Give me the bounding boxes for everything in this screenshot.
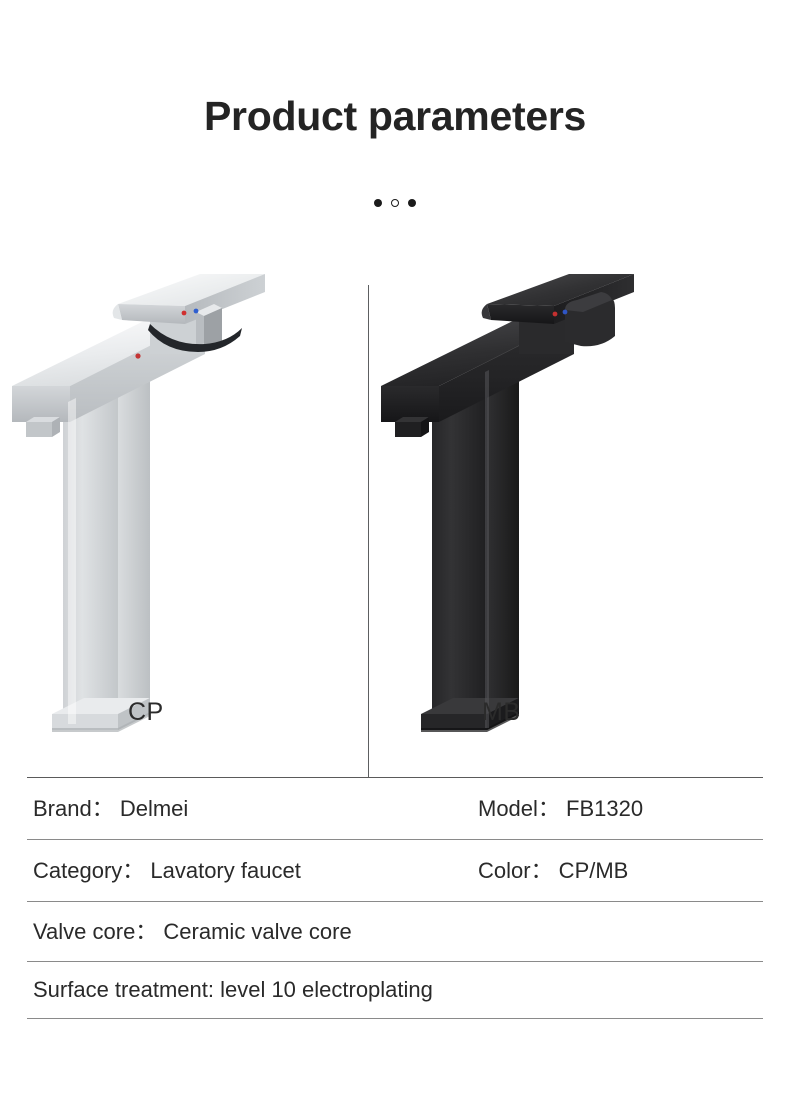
chrome-handle-front bbox=[118, 304, 185, 324]
black-handle-front bbox=[487, 304, 554, 324]
chrome-column-side bbox=[118, 354, 150, 730]
specification-table: Brand： Delmei Model： FB1320 Category： La… bbox=[27, 777, 763, 1019]
spec-valve-core: Valve core： Ceramic valve core bbox=[33, 921, 352, 943]
product-cp[interactable]: CP bbox=[0, 262, 368, 778]
chrome-aerator bbox=[26, 422, 52, 437]
spec-surface-treatment: Surface treatment: level 10 electroplati… bbox=[33, 979, 433, 1001]
spec-color: Color： CP/MB bbox=[478, 860, 628, 882]
spec-row-category-color: Category： Lavatory faucet Color： CP/MB bbox=[27, 840, 763, 902]
spec-category: Category： Lavatory faucet bbox=[33, 860, 301, 882]
spec-row-surface-treatment: Surface treatment: level 10 electroplati… bbox=[27, 962, 763, 1019]
page-title: Product parameters bbox=[0, 96, 790, 137]
spec-model: Model： FB1320 bbox=[478, 798, 643, 820]
spec-row-valve-core: Valve core： Ceramic valve core bbox=[27, 902, 763, 962]
spec-row-brand-model: Brand： Delmei Model： FB1320 bbox=[27, 778, 763, 840]
black-aerator bbox=[395, 422, 421, 437]
black-spout-face bbox=[381, 386, 439, 422]
hot-indicator-secondary-icon bbox=[135, 353, 140, 358]
cold-indicator-icon bbox=[563, 310, 568, 315]
black-column-front bbox=[432, 370, 487, 730]
matte-black-faucet-image bbox=[369, 262, 737, 778]
spec-brand: Brand： Delmei bbox=[33, 798, 188, 820]
product-label-cp: CP bbox=[128, 700, 164, 725]
carousel-dot-2[interactable] bbox=[391, 199, 399, 207]
black-column-side bbox=[487, 354, 519, 730]
black-base-front bbox=[421, 714, 487, 730]
hot-indicator-icon bbox=[553, 312, 558, 317]
chrome-spout-face bbox=[12, 386, 70, 422]
product-showcase: CP bbox=[0, 262, 790, 778]
cold-indicator-icon bbox=[194, 309, 199, 314]
hot-indicator-icon bbox=[182, 311, 187, 316]
carousel-dots bbox=[0, 199, 790, 207]
product-mb[interactable]: MB bbox=[369, 262, 737, 778]
chrome-faucet-image bbox=[0, 262, 368, 778]
carousel-dot-3[interactable] bbox=[408, 199, 416, 207]
carousel-dot-1[interactable] bbox=[374, 199, 382, 207]
product-label-mb: MB bbox=[482, 700, 521, 725]
